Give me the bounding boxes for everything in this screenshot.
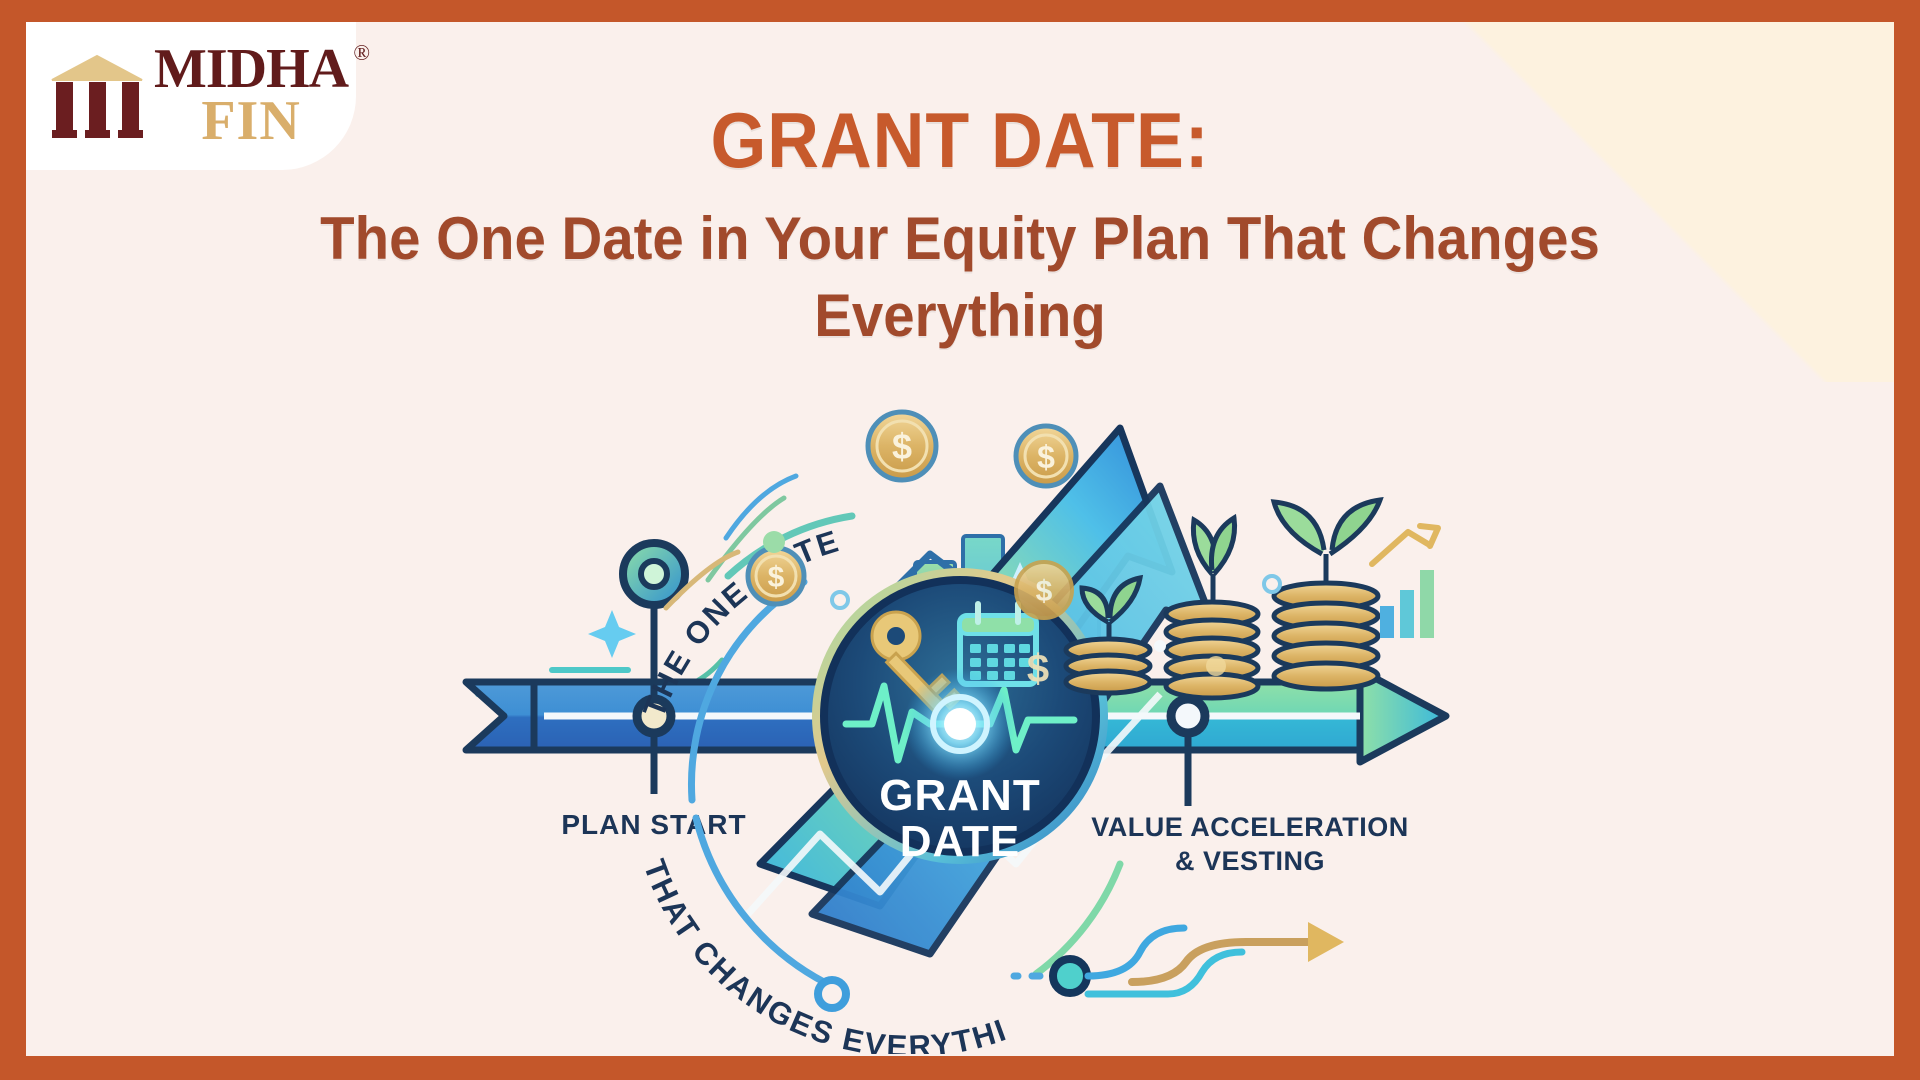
badge-title-line1: GRANT <box>879 771 1040 820</box>
page-subtitle: The One Date in Your Equity Plan That Ch… <box>293 201 1628 355</box>
svg-text:$: $ <box>1036 575 1053 608</box>
svg-text:$: $ <box>1037 439 1055 475</box>
brand-logo[interactable]: MIDHA FIN ® <box>26 22 356 170</box>
badge-title-line2: DATE <box>900 817 1021 866</box>
poster-root: MIDHA FIN ® GRANT DATE: The One Date in … <box>0 0 1920 1080</box>
mini-bar-chart-icon <box>1372 526 1438 638</box>
decorative-flow-bottom-right <box>1014 922 1344 994</box>
svg-text:$: $ <box>768 561 785 594</box>
label-plan-start: PLAN START <box>561 809 746 840</box>
page-title: GRANT DATE: <box>101 100 1820 181</box>
label-value-acceleration-line1: VALUE ACCELERATION <box>1091 812 1409 842</box>
poster-canvas: MIDHA FIN ® GRANT DATE: The One Date in … <box>26 22 1894 1056</box>
svg-text:$: $ <box>1027 647 1049 691</box>
grant-date-infographic: PLAN START VALUE ACCELERATION & VESTING <box>460 394 1460 1054</box>
brand-name-bottom: FIN <box>154 95 348 148</box>
svg-text:$: $ <box>892 426 912 467</box>
brand-name-top: MIDHA <box>154 44 348 96</box>
label-value-acceleration-line2: & VESTING <box>1175 846 1325 876</box>
registered-trademark-icon: ® <box>353 40 370 66</box>
brand-wordmark: MIDHA FIN ® <box>154 44 348 149</box>
classical-pillars-icon <box>48 50 146 142</box>
